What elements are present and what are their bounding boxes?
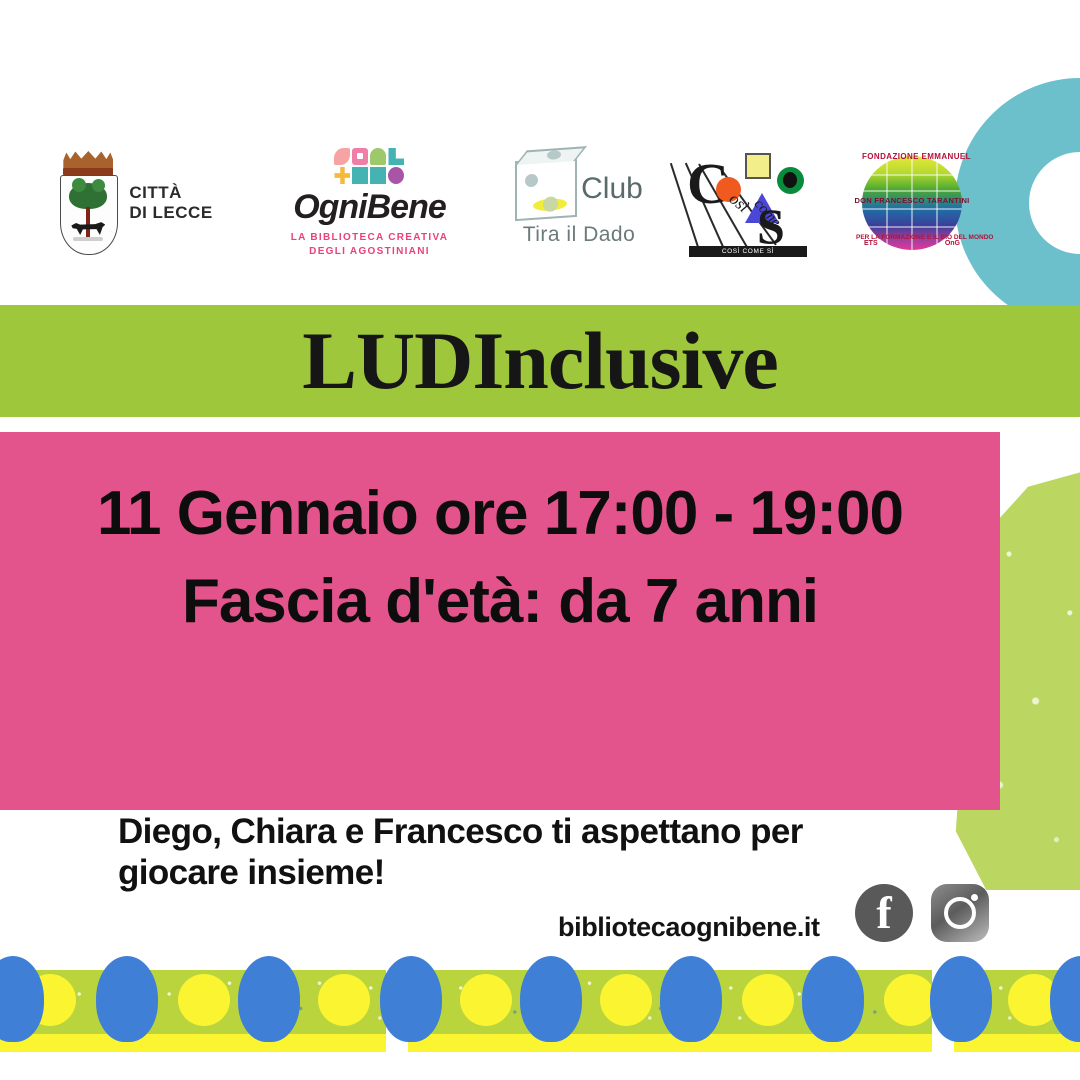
border-yellow-blob: [742, 974, 794, 1026]
border-blue-blob: [660, 956, 722, 1042]
page-title: LUDInclusive: [302, 320, 778, 402]
facebook-icon[interactable]: [855, 884, 913, 942]
dado-club-label: Club: [581, 172, 643, 206]
instagram-icon[interactable]: [931, 884, 989, 942]
lecce-coat-of-arms-icon: [57, 151, 119, 255]
border-blue-blob: [930, 956, 992, 1042]
event-info-box: 11 Gennaio ore 17:00 - 19:00 Fascia d'et…: [0, 432, 1000, 810]
cosi-ring-icon: [777, 167, 804, 194]
cosi-square-icon: [745, 153, 771, 179]
bottom-decorative-border: [0, 948, 1080, 1080]
ognibene-blocks-icon: [334, 148, 404, 184]
website-url[interactable]: bibliotecaognibene.it: [558, 912, 820, 943]
event-datetime: 11 Gennaio ore 17:00 - 19:00: [0, 470, 1000, 558]
border-blue-blob: [96, 956, 158, 1042]
border-yellow-blob: [600, 974, 652, 1026]
dice-icon: [515, 157, 577, 221]
emmanuel-right-tag: OnG: [945, 240, 960, 247]
logo-ognibene: OgniBene LA BIBLIOTECA CREATIVA DEGLI AG…: [262, 133, 477, 273]
body-line-1: Diego, Chiara e Francesco ti aspettano p…: [118, 812, 908, 853]
border-blue-blob: [380, 956, 442, 1042]
cosi-bar-text: COSÌ COME SÌ: [689, 246, 807, 257]
border-yellow-blob: [178, 974, 230, 1026]
ognibene-wordmark: OgniBene: [293, 188, 446, 227]
social-links: [855, 884, 989, 942]
cosi-bar: COSÌ COME SÌ: [689, 246, 807, 257]
border-yellow-blob: [318, 974, 370, 1026]
body-text: Diego, Chiara e Francesco ti aspettano p…: [118, 812, 908, 893]
logo-fondazione-emmanuel: FONDAZIONE EMMANUEL DON FRANCESCO TARANT…: [837, 133, 987, 273]
emmanuel-left-tag: ETS: [864, 240, 878, 247]
partner-logo-strip: CITTÀ DI LECCE OgniBene: [0, 128, 1080, 278]
logo-cosi-come-si: C osì come S COSÌ COME SÌ: [673, 133, 823, 273]
dado-caption: Tira il Dado: [523, 223, 636, 247]
ognibene-tagline: LA BIBLIOTECA CREATIVA DEGLI AGOSTINIANI: [291, 231, 448, 258]
poster-root: CITTÀ DI LECCE OgniBene: [0, 0, 1080, 1080]
event-age-range: Fascia d'età: da 7 anni: [0, 558, 1000, 646]
logo-club-tira-il-dado: Club Tira il Dado: [499, 133, 659, 273]
border-blue-blob: [238, 956, 300, 1042]
logo-citta-di-lecce: CITTÀ DI LECCE: [30, 133, 240, 273]
border-yellow-blob: [884, 974, 936, 1026]
emmanuel-arc-top: FONDAZIONE EMMANUEL: [862, 152, 962, 161]
lecce-label: CITTÀ DI LECCE: [129, 183, 212, 222]
title-band: LUDInclusive: [0, 305, 1080, 417]
emmanuel-mid-text: DON FRANCESCO TARANTINI: [854, 196, 970, 205]
border-blue-blob: [520, 956, 582, 1042]
border-yellow-blob: [460, 974, 512, 1026]
body-line-2: giocare insieme!: [118, 853, 908, 894]
border-blue-blob: [802, 956, 864, 1042]
